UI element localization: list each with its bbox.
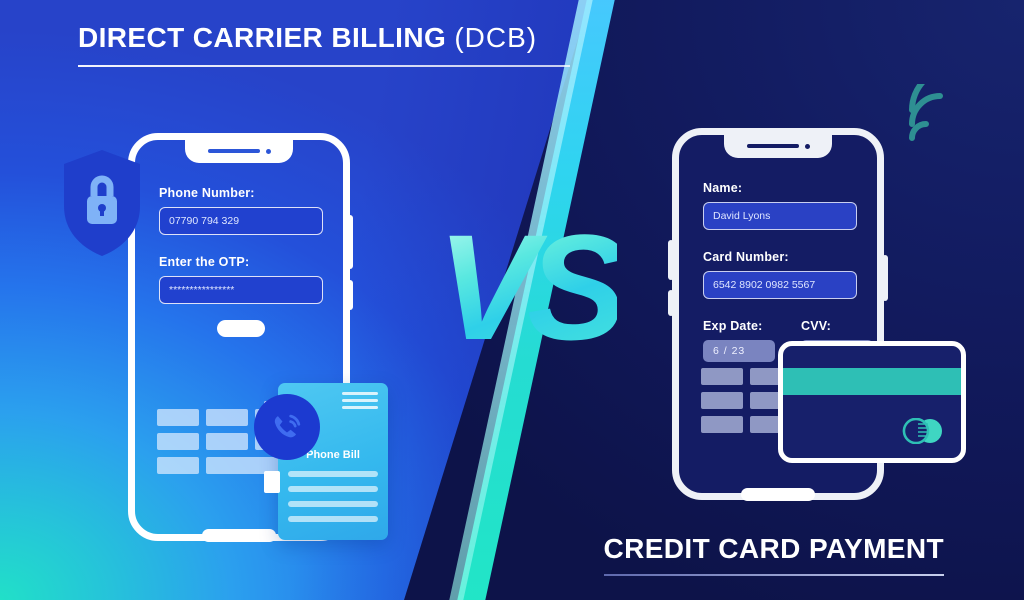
left-title-suffix: (DCB) — [454, 22, 537, 53]
bill-tab — [264, 471, 280, 493]
bill-body-lines — [288, 471, 378, 531]
phone-notch — [185, 139, 293, 163]
right-title-underline — [604, 574, 944, 576]
card-number-label: Card Number: — [703, 250, 857, 264]
volume-up-button[interactable] — [668, 240, 674, 280]
otp-input[interactable]: **************** — [159, 276, 323, 304]
speaker-icon — [747, 144, 799, 148]
power-button[interactable] — [347, 280, 353, 310]
name-input[interactable]: David Lyons — [703, 202, 857, 230]
camera-icon — [805, 144, 810, 149]
keypad-key[interactable] — [157, 457, 199, 474]
keypad-key[interactable] — [206, 433, 248, 450]
bill-line — [288, 471, 378, 477]
dual-circle-logo-icon — [901, 418, 945, 444]
comparison-infographic: DIRECT CARRIER BILLING (DCB) CREDIT CARD… — [0, 0, 1024, 600]
bill-line — [288, 486, 378, 492]
speaker-icon — [208, 149, 260, 153]
volume-down-button[interactable] — [668, 290, 674, 316]
card-number-input[interactable]: 6542 8902 0982 5567 — [703, 271, 857, 299]
home-indicator — [202, 529, 276, 542]
contactless-wifi-icon — [902, 84, 964, 142]
phone-number-label: Phone Number: — [159, 186, 323, 200]
keypad-key[interactable] — [701, 416, 743, 433]
bill-header-line — [342, 392, 378, 395]
bill-line — [288, 501, 378, 507]
cvv-label: CVV: — [801, 319, 873, 333]
phone-notch — [724, 134, 832, 158]
expiry-group: Exp Date: 6 / 23 — [703, 319, 775, 362]
otp-label: Enter the OTP: — [159, 255, 323, 269]
phone-number-input[interactable]: 07790 794 329 — [159, 207, 323, 235]
exp-date-label: Exp Date: — [703, 319, 775, 333]
dcb-form: Phone Number: 07790 794 329 Enter the OT… — [159, 186, 323, 337]
exp-date-input[interactable]: 6 / 23 — [703, 340, 775, 362]
left-panel-title: DIRECT CARRIER BILLING (DCB) — [78, 22, 578, 54]
credit-card-graphic — [778, 341, 966, 463]
keypad-key[interactable] — [157, 433, 199, 450]
bill-header-line — [342, 399, 378, 402]
submit-button[interactable] — [217, 320, 265, 337]
volume-button[interactable] — [347, 215, 353, 269]
home-indicator — [741, 488, 815, 501]
shield-lock-icon — [60, 148, 144, 258]
right-panel-title: CREDIT CARD PAYMENT — [603, 533, 944, 565]
keypad-key[interactable] — [157, 409, 199, 426]
keypad-key[interactable] — [701, 392, 743, 409]
left-title-main: DIRECT CARRIER BILLING — [78, 22, 446, 53]
bill-line — [288, 516, 378, 522]
magnetic-stripe — [783, 368, 961, 395]
camera-icon — [266, 149, 271, 154]
name-label: Name: — [703, 181, 857, 195]
phone-call-icon — [254, 394, 320, 460]
keypad-key[interactable] — [206, 409, 248, 426]
keypad-key[interactable] — [701, 368, 743, 385]
versus-label: VS — [437, 212, 617, 362]
bill-header-line — [342, 406, 378, 409]
power-button[interactable] — [882, 255, 888, 301]
credit-card-form: Name: David Lyons Card Number: 6542 8902… — [703, 181, 857, 362]
left-title-underline — [78, 65, 570, 67]
